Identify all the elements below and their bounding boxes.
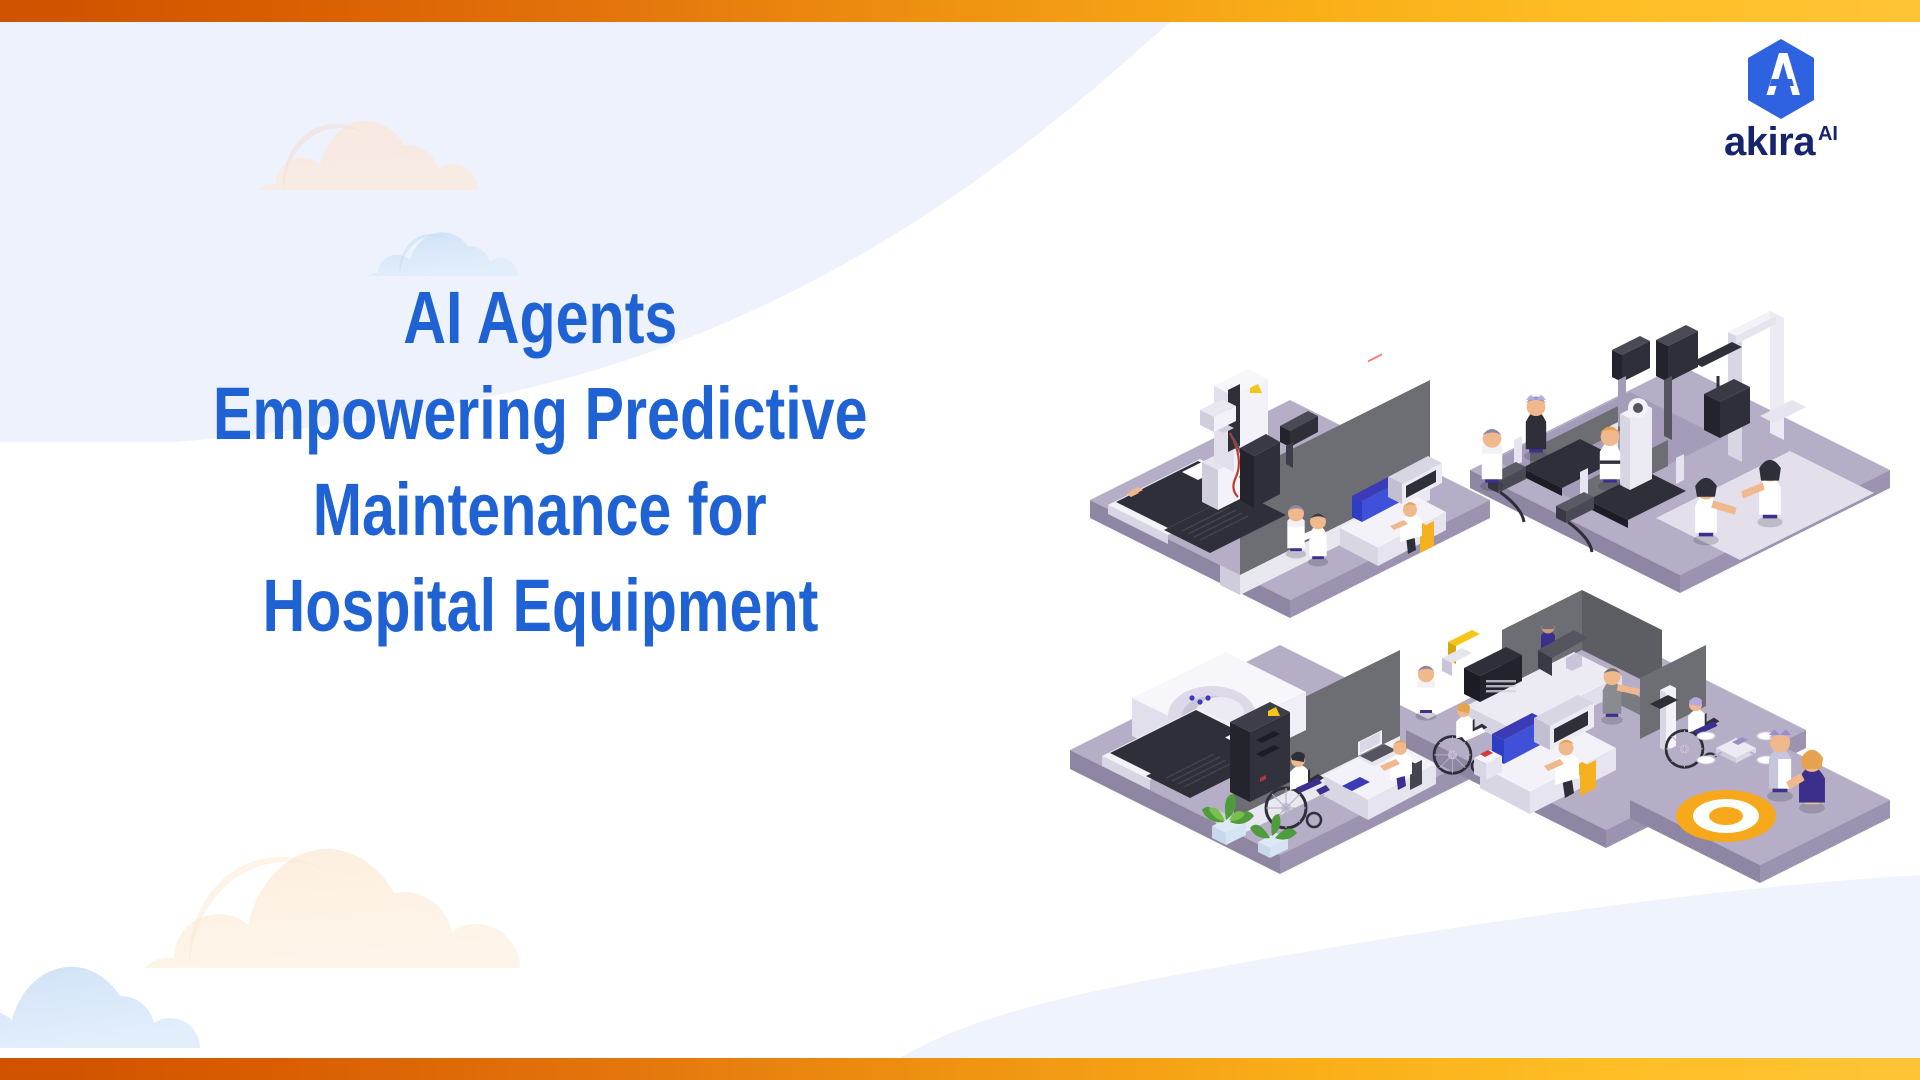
isometric-hospital-equipment-illustration [1070,230,1910,890]
top-gradient-bar [0,0,1920,22]
headline-line-4: Hospital Equipment [262,558,818,654]
akira-hexagon-logo-icon [1744,38,1818,120]
cloud-cream-bottom-left [100,849,520,968]
logo-wordmark-superscript: AI [1818,124,1838,144]
illustration-svg [1070,230,1910,890]
scene-radiotherapy-room [1090,353,1490,618]
headline-line-1: AI Agents [403,270,677,366]
banner-canvas: akira AI AI Agents Empowering Predictive… [0,0,1920,1080]
scene-rehabilitation-gym [1470,311,1890,593]
bottom-gradient-bar [0,1058,1920,1080]
headline-line-2: Empowering Predictive [213,366,868,462]
logo-wordmark-text: akira [1724,122,1815,162]
logo-wordmark: akira AI [1724,122,1838,162]
headline-line-3: Maintenance for [313,462,767,558]
page-title: AI Agents Empowering Predictive Maintena… [0,270,1080,654]
brand-logo[interactable]: akira AI [1688,38,1874,164]
